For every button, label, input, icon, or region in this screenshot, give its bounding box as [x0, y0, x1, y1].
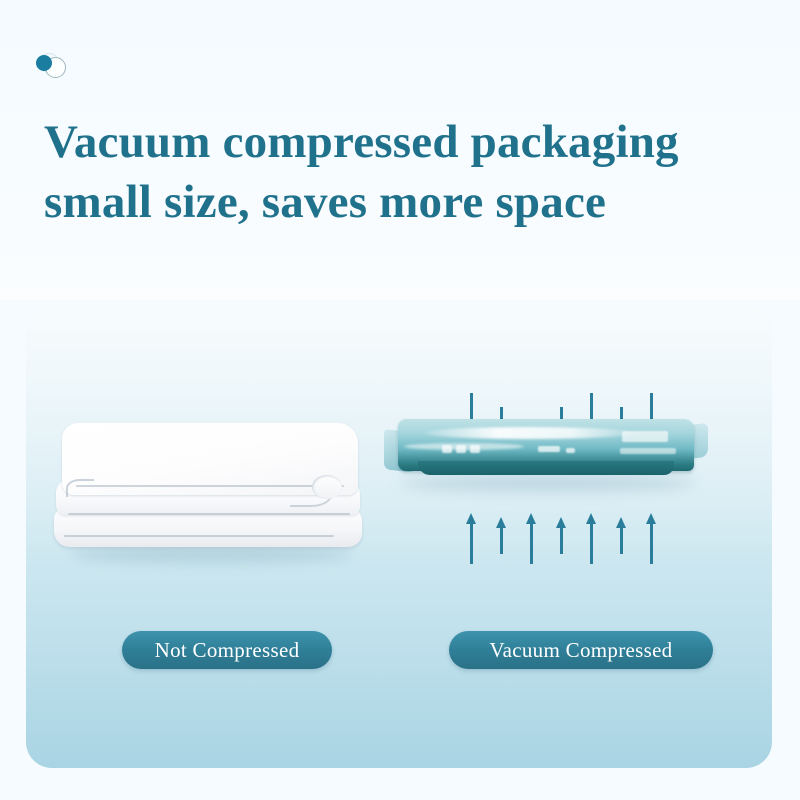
- bag-base-shadow: [418, 461, 674, 475]
- bag-print-mark: [622, 431, 668, 442]
- circle-dot-logo-icon: [33, 52, 73, 84]
- bag-highlight-primary: [424, 427, 634, 439]
- page-title: Vacuum compressed packaging small size, …: [44, 112, 764, 232]
- blanket-shadow: [70, 545, 352, 563]
- folded-blanket-illustration: [54, 423, 364, 563]
- bag-print-mark: [442, 445, 452, 453]
- vacuum-sealed-bag: [384, 417, 708, 479]
- bag-print-mark: [620, 448, 676, 454]
- header-section: Vacuum compressed packaging small size, …: [0, 0, 800, 300]
- logo-dot: [36, 55, 52, 71]
- pressure-arrows-bottom: [466, 510, 656, 568]
- headline-line-1: Vacuum compressed packaging: [44, 112, 764, 172]
- bag-print-mark: [456, 445, 466, 453]
- bag-print-mark: [470, 445, 480, 453]
- blanket-curl-left: [66, 479, 94, 497]
- caption-not-compressed: Not Compressed: [122, 631, 332, 669]
- bag-print-mark: [566, 448, 575, 453]
- blanket-roll-end: [312, 475, 342, 499]
- comparison-panel: Not Compressed Vacuum Compressed: [26, 305, 772, 768]
- blanket-crease-2: [68, 513, 350, 515]
- bag-print-mark: [538, 446, 560, 452]
- headline-line-2: small size, saves more space: [44, 172, 764, 232]
- blanket-crease-3: [64, 535, 334, 537]
- caption-vacuum-compressed: Vacuum Compressed: [449, 631, 713, 669]
- vacuum-bag-illustration: [378, 365, 714, 595]
